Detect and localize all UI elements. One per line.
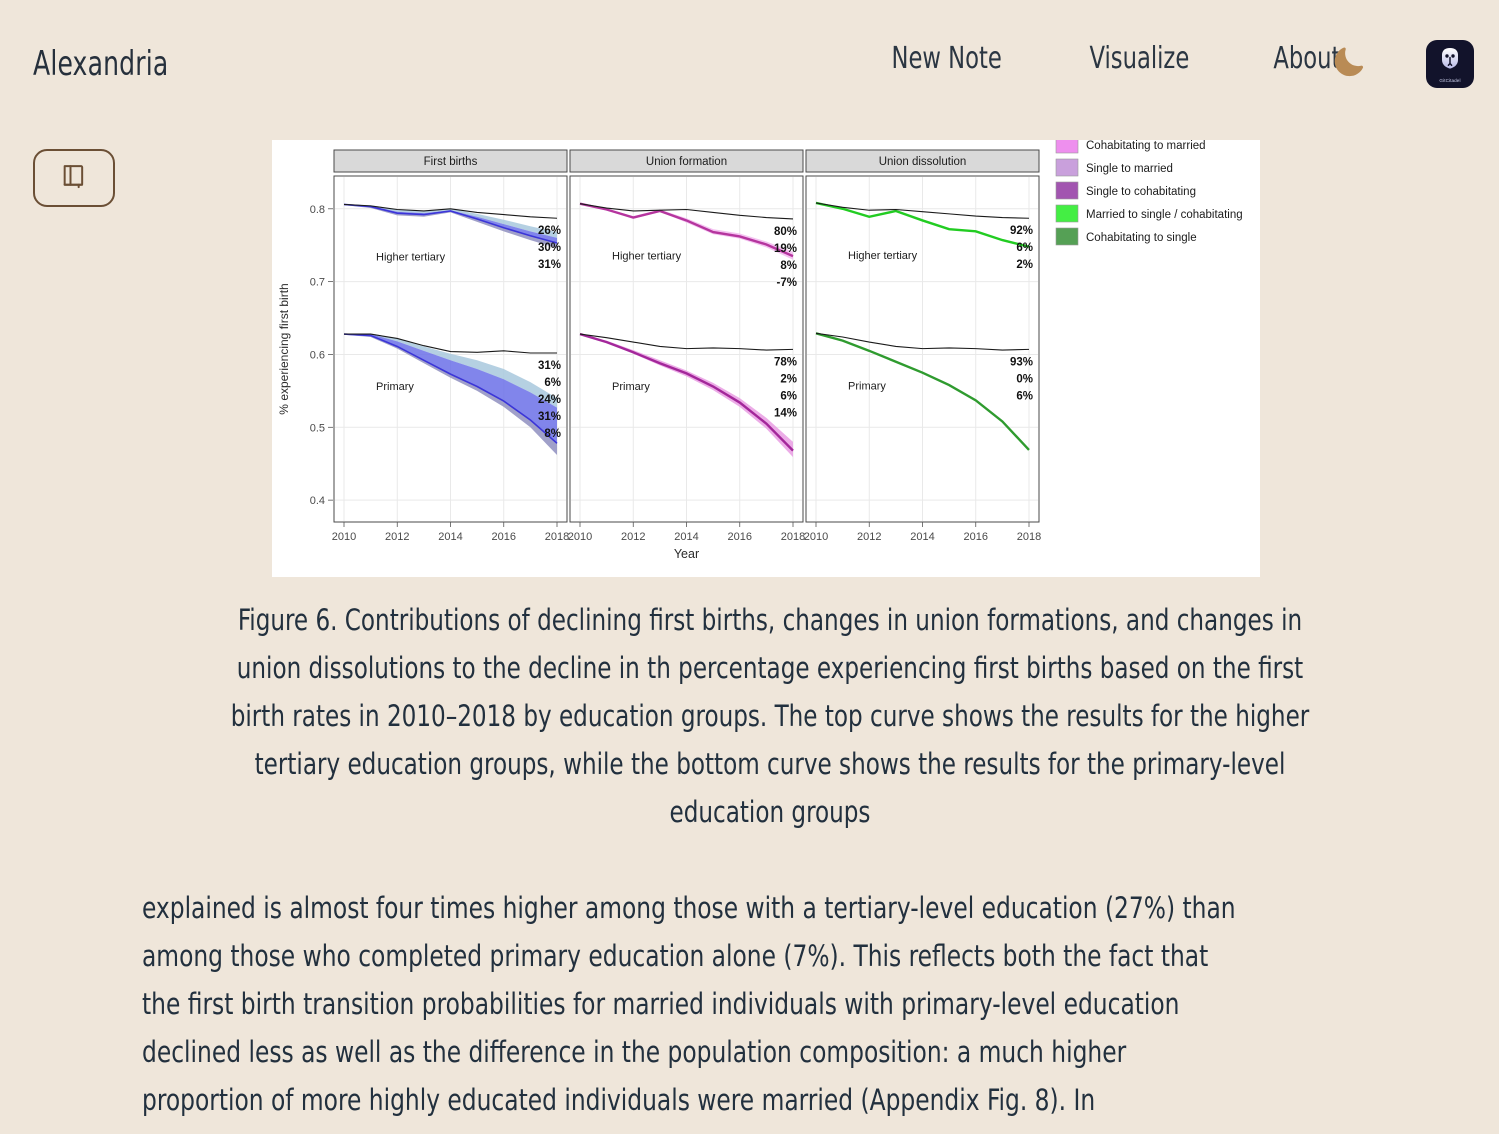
contribution-label: 93% bbox=[1010, 356, 1033, 368]
x-tick-label: 2016 bbox=[964, 531, 988, 543]
contribution-label: 80% bbox=[774, 226, 797, 238]
panel-title: Union dissolution bbox=[879, 156, 967, 168]
legend-label: Married to single / cohabitating bbox=[1086, 209, 1243, 221]
article-paragraph: explained is almost four times higher am… bbox=[142, 884, 1246, 1124]
group-label: Primary bbox=[848, 380, 886, 392]
contribution-label: 0% bbox=[1016, 373, 1033, 385]
contribution-label: 14% bbox=[774, 407, 797, 419]
group-label: Higher tertiary bbox=[848, 250, 918, 262]
figure-caption: Figure 6. Contributions of declining fir… bbox=[222, 596, 1318, 836]
contribution-label: 26% bbox=[538, 225, 561, 237]
legend-swatch bbox=[1056, 205, 1078, 222]
contribution-label: 19% bbox=[774, 243, 797, 255]
y-tick-label: 0.8 bbox=[310, 204, 325, 216]
contribution-label: 30% bbox=[538, 242, 561, 254]
x-tick-label: 2010 bbox=[804, 531, 828, 543]
panel-title: First births bbox=[424, 156, 478, 168]
contribution-label: 8% bbox=[544, 428, 561, 440]
x-tick-label: 2016 bbox=[728, 531, 752, 543]
chart-panel: Union formation20102012201420162018Highe… bbox=[568, 150, 805, 543]
legend-swatch bbox=[1056, 228, 1078, 245]
x-tick-label: 2014 bbox=[438, 531, 462, 543]
app-brand[interactable]: Alexandria bbox=[33, 44, 168, 84]
group-label: Higher tertiary bbox=[612, 251, 682, 263]
legend-item: Single to married bbox=[1056, 159, 1173, 176]
contribution-label: 6% bbox=[1016, 242, 1033, 254]
legend-item: Single to cohabitating bbox=[1056, 182, 1196, 199]
moon-icon bbox=[1331, 44, 1367, 85]
contribution-label: 8% bbox=[780, 260, 797, 272]
nav-links: New Note Visualize About bbox=[847, 41, 1381, 76]
top-navbar: Alexandria New Note Visualize About bbox=[0, 0, 1499, 128]
x-tick-label: 2016 bbox=[492, 531, 516, 543]
y-tick-label: 0.6 bbox=[310, 349, 325, 361]
x-tick-label: 2018 bbox=[1017, 531, 1041, 543]
x-tick-label: 2018 bbox=[781, 531, 805, 543]
contribution-label: 31% bbox=[538, 360, 561, 372]
x-tick-label: 2010 bbox=[568, 531, 592, 543]
nav-item-new-note[interactable]: New Note bbox=[863, 41, 1030, 76]
y-tick-label: 0.4 bbox=[310, 495, 325, 507]
group-label: Higher tertiary bbox=[376, 251, 446, 263]
figure-image: % experiencing first birth0.40.50.60.70.… bbox=[272, 140, 1260, 577]
contribution-label: 2% bbox=[1016, 259, 1033, 271]
x-tick-label: 2012 bbox=[621, 531, 645, 543]
legend-swatch bbox=[1056, 159, 1078, 176]
contribution-label: 6% bbox=[544, 377, 561, 389]
chart-panel: Union dissolution20102012201420162018Hig… bbox=[804, 150, 1041, 543]
panel-title: Union formation bbox=[646, 156, 727, 168]
legend-label: Single to married bbox=[1086, 163, 1173, 175]
book-icon bbox=[60, 162, 88, 195]
legend-item: Cohabitating to married bbox=[1056, 140, 1206, 153]
x-tick-label: 2014 bbox=[674, 531, 698, 543]
contribution-label: 6% bbox=[1016, 390, 1033, 402]
x-tick-label: 2014 bbox=[910, 531, 934, 543]
nav-item-visualize[interactable]: Visualize bbox=[1061, 41, 1218, 76]
y-axis-title: % experiencing first birth bbox=[277, 283, 291, 414]
legend-item: Married to single / cohabitating bbox=[1056, 205, 1243, 222]
contribution-label: -7% bbox=[777, 277, 797, 289]
group-label: Primary bbox=[612, 381, 650, 393]
contribution-label: 31% bbox=[538, 259, 561, 271]
contribution-label: 2% bbox=[780, 373, 797, 385]
x-axis-title: Year bbox=[674, 547, 699, 561]
gitcitadel-logo-icon bbox=[1438, 46, 1462, 77]
library-toggle-button[interactable] bbox=[33, 149, 115, 207]
chart-panel: First births20102012201420162018Higher t… bbox=[332, 150, 569, 543]
contribution-label: 31% bbox=[538, 411, 561, 423]
gitcitadel-logo-button[interactable]: GitCitadel bbox=[1426, 40, 1474, 88]
x-tick-label: 2012 bbox=[857, 531, 881, 543]
legend-label: Cohabitating to married bbox=[1086, 140, 1206, 152]
contribution-label: 92% bbox=[1010, 225, 1033, 237]
figure-chart-svg: % experiencing first birth0.40.50.60.70.… bbox=[272, 140, 1260, 577]
y-tick-label: 0.7 bbox=[310, 277, 325, 289]
legend-swatch bbox=[1056, 140, 1078, 153]
contribution-label: 6% bbox=[780, 390, 797, 402]
y-tick-label: 0.5 bbox=[310, 422, 325, 434]
legend-label: Cohabitating to single bbox=[1086, 232, 1197, 244]
legend-label: Single to cohabitating bbox=[1086, 186, 1196, 198]
x-tick-label: 2018 bbox=[545, 531, 569, 543]
contribution-label: 24% bbox=[538, 394, 561, 406]
x-tick-label: 2012 bbox=[385, 531, 409, 543]
x-tick-label: 2010 bbox=[332, 531, 356, 543]
theme-toggle-button[interactable] bbox=[1327, 42, 1371, 86]
legend-item: Cohabitating to single bbox=[1056, 228, 1197, 245]
legend-swatch bbox=[1056, 182, 1078, 199]
gitcitadel-logo-label: GitCitadel bbox=[1439, 78, 1460, 83]
contribution-label: 78% bbox=[774, 356, 797, 368]
group-label: Primary bbox=[376, 381, 414, 393]
